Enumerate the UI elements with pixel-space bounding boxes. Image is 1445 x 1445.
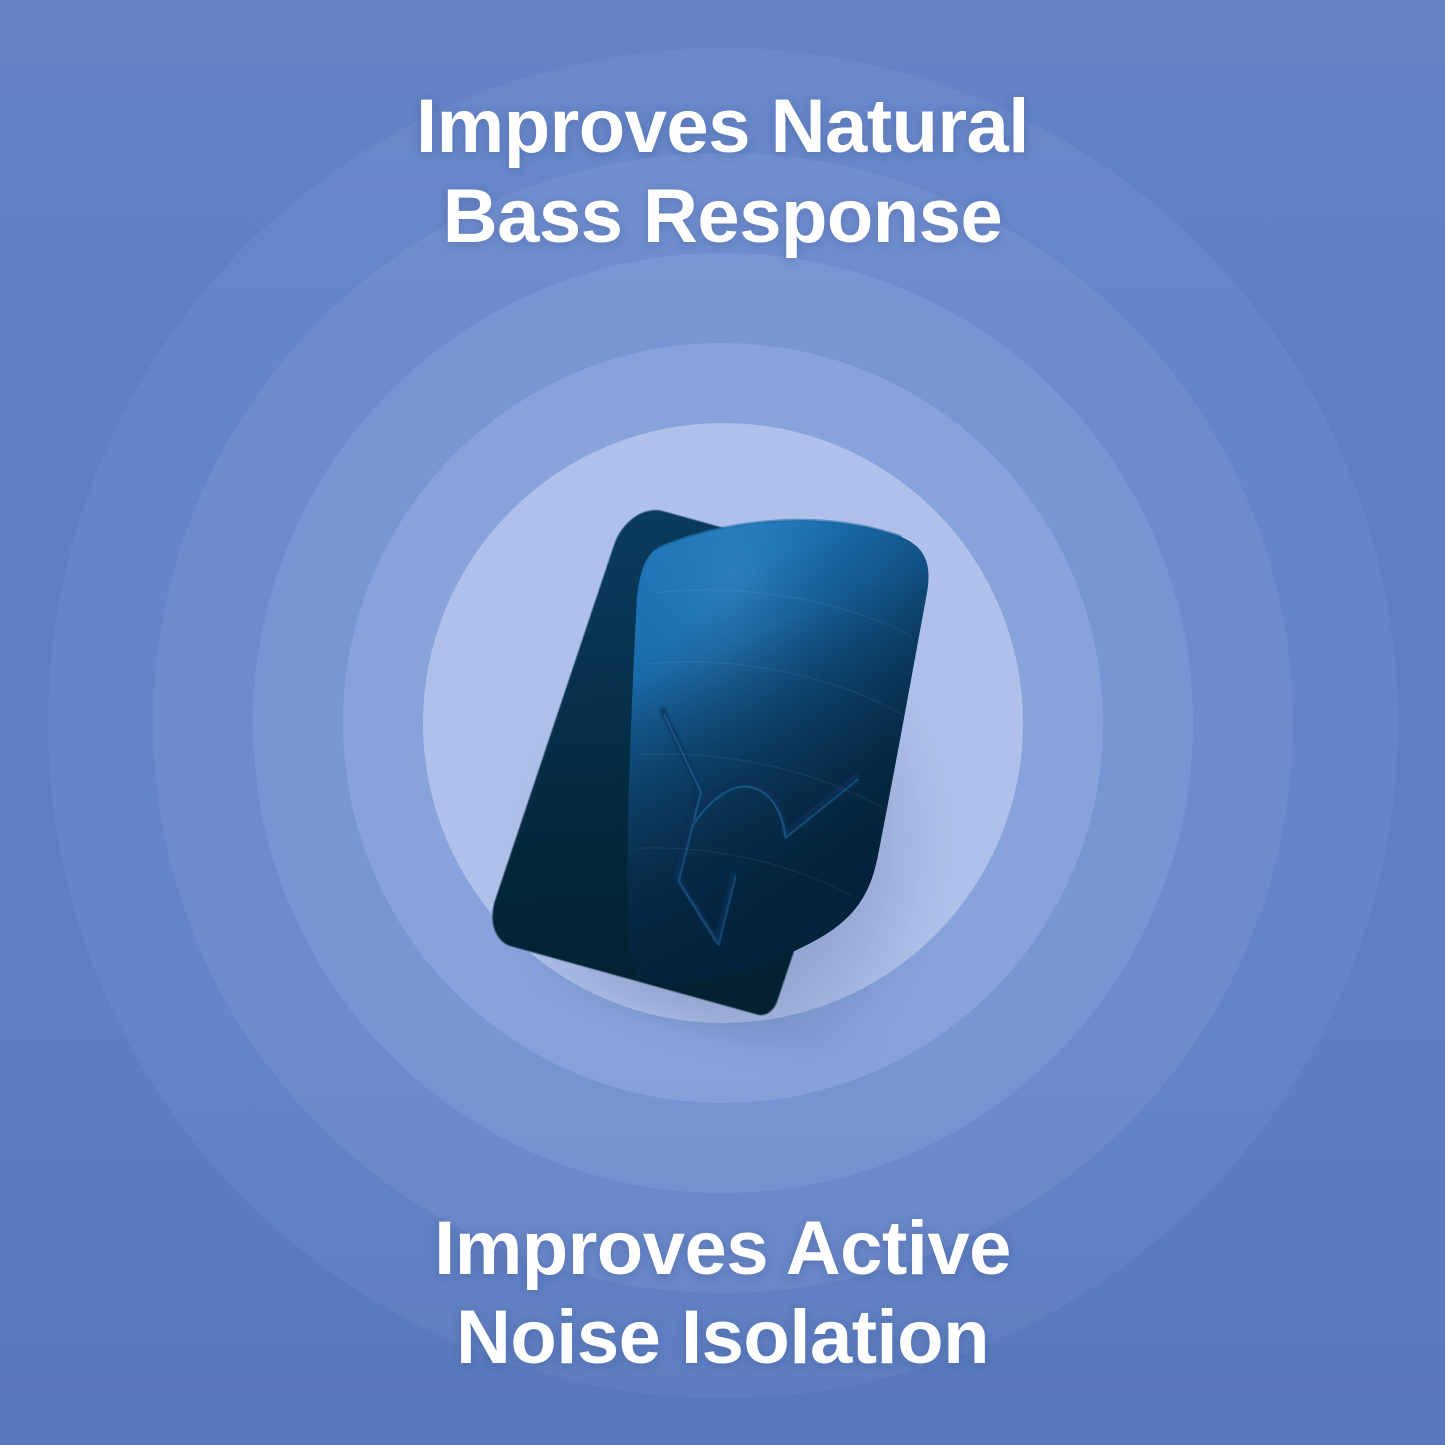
product-feature-graphic: Improves Natural Bass Response Improves … (0, 0, 1445, 1445)
headline-bottom-line-1: Improves Active (0, 1204, 1445, 1294)
headline-top-line-1: Improves Natural (0, 82, 1445, 172)
headline-top: Improves Natural Bass Response (0, 82, 1445, 261)
headline-top-line-2: Bass Response (0, 172, 1445, 262)
headline-bottom-line-2: Noise Isolation (0, 1293, 1445, 1383)
headline-bottom: Improves Active Noise Isolation (0, 1204, 1445, 1383)
